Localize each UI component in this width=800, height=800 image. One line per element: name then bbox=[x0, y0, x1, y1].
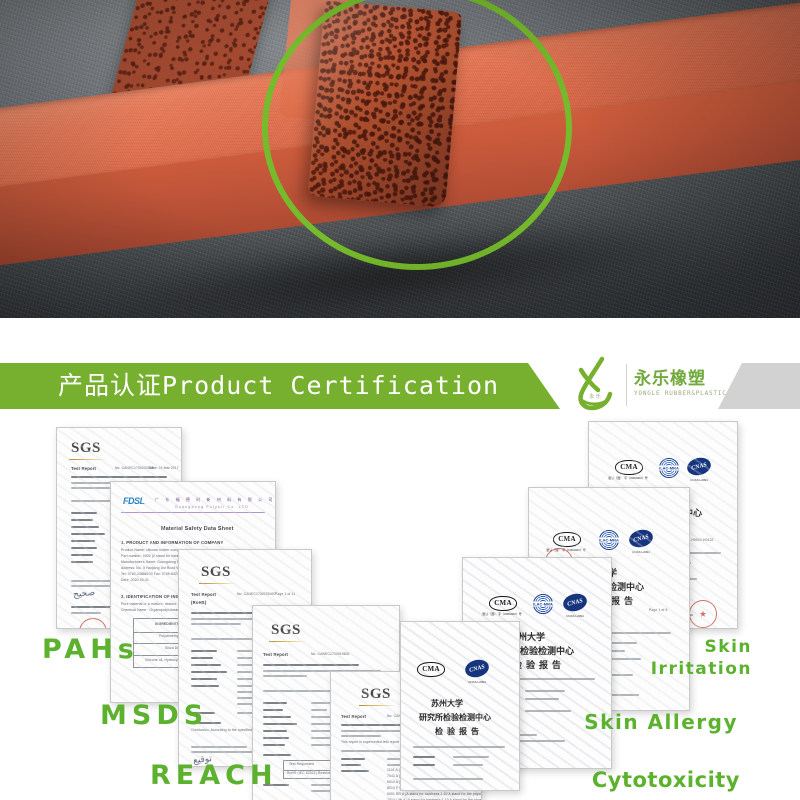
cma-sub: 量认（国） 字（0000000）号 bbox=[479, 612, 525, 616]
certificate-collage: SGS Test Report No. CANEC1700000000 Date… bbox=[0, 409, 800, 800]
certificate-cn-4[interactable]: CMA CNAS CNAS L2094 苏州大学 研究所检验检测中心 检验报告 bbox=[400, 621, 520, 791]
tag-skin-irritation: Skin Irritation bbox=[651, 636, 752, 680]
cma-mark: CMA bbox=[417, 662, 445, 677]
institution-name: 苏州大学 bbox=[431, 698, 463, 709]
page-title: 产品认证Product Certification bbox=[58, 363, 499, 409]
logo-name-cn: 永乐橡塑 bbox=[634, 364, 706, 389]
doc-title: 检验报告 bbox=[435, 726, 483, 737]
tag-skin-allergy: Skin Allergy bbox=[584, 710, 738, 734]
company-logo: 永 乐 永乐橡塑 YONGLE RUBBER&PLASTIC bbox=[568, 354, 718, 416]
cma-mark: CMA bbox=[489, 596, 517, 611]
tag-skin-irritation-line1: Skin bbox=[651, 636, 752, 658]
logo-divider bbox=[626, 364, 627, 406]
leaf-y-icon: 永 乐 bbox=[568, 356, 622, 414]
product-photo bbox=[0, 0, 800, 318]
photo-vignette bbox=[0, 0, 800, 318]
ilac-mra-mark: ILAC-MRA bbox=[533, 594, 553, 614]
tag-skin-irritation-line2: Irritation bbox=[651, 658, 752, 680]
tag-reach: REACH bbox=[150, 760, 278, 791]
tag-msds: MSDS bbox=[100, 700, 208, 731]
institution-line2: 研究所检验检测中心 bbox=[419, 712, 491, 723]
banner-gray-tab bbox=[718, 363, 800, 409]
svg-text:永 乐: 永 乐 bbox=[589, 393, 601, 400]
cnas-sub: CNAS L2094 bbox=[459, 680, 495, 684]
tag-cytotoxicity: Cytotoxicity bbox=[592, 768, 740, 792]
tag-pahs: PAHs bbox=[42, 634, 139, 665]
cnas-sub: CNAS L2094 bbox=[557, 614, 593, 618]
product-certification-page: 产品认证Product Certification 永 乐 永乐橡塑 YONGL… bbox=[0, 0, 800, 800]
doc-title: 检验报告 bbox=[513, 658, 565, 671]
logo-name-en: YONGLE RUBBER&PLASTIC bbox=[634, 390, 727, 397]
